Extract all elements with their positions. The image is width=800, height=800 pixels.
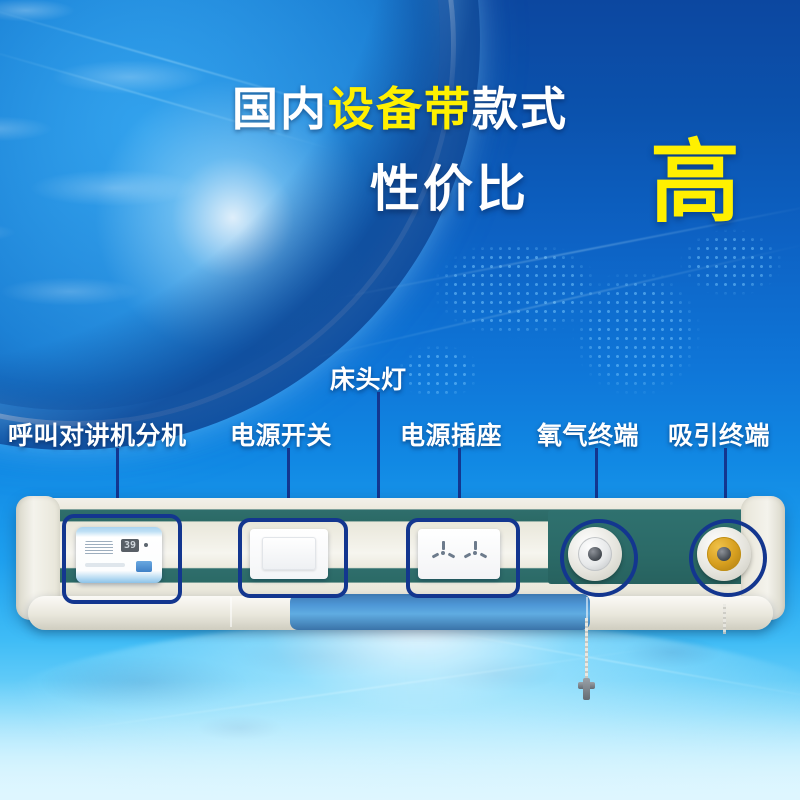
bottom-glow [0,680,800,800]
headline-value-text: 性价比 [370,164,529,214]
cord-weight-bar [583,678,590,700]
headline-part-3: 款式 [472,83,568,135]
highlight-box-power-switch [238,518,348,598]
highlight-box-nurse-call [62,514,182,604]
callout-label-power-switch: 电源开关 [230,416,332,452]
callout-label-suction-terminal: 吸引终端 [668,416,770,452]
highlight-circle-suction-terminal [689,519,767,597]
highlight-circle-oxygen-terminal [560,519,638,597]
callout-label-power-socket: 电源插座 [400,416,502,452]
bedside-lamp[interactable] [290,594,590,630]
headline-part-2: 设备带 [328,83,472,135]
callout-label-nurse-call: 呼叫对讲机分机 [8,416,187,452]
headline-emphasis-gao: 高 [650,138,740,228]
rail-seam [230,597,232,627]
headline-block: 国内设备带款式 性价比 高 [0,86,800,132]
pull-cord[interactable] [585,618,588,680]
headline-line-1: 国内设备带款式 [0,86,800,132]
callout-label-oxygen-terminal: 氧气终端 [537,416,639,452]
callout-label-bedside-lamp: 床头灯 [330,360,407,396]
pull-cord[interactable] [723,604,726,634]
poster-canvas: 国内设备带款式 性价比 高 呼叫对讲机分机 电源开关 床头灯 电源插座 氧气终端… [0,0,800,800]
highlight-box-power-socket [406,518,520,598]
pull-cord-weight[interactable] [578,678,595,700]
headline-part-1: 国内 [232,83,328,135]
